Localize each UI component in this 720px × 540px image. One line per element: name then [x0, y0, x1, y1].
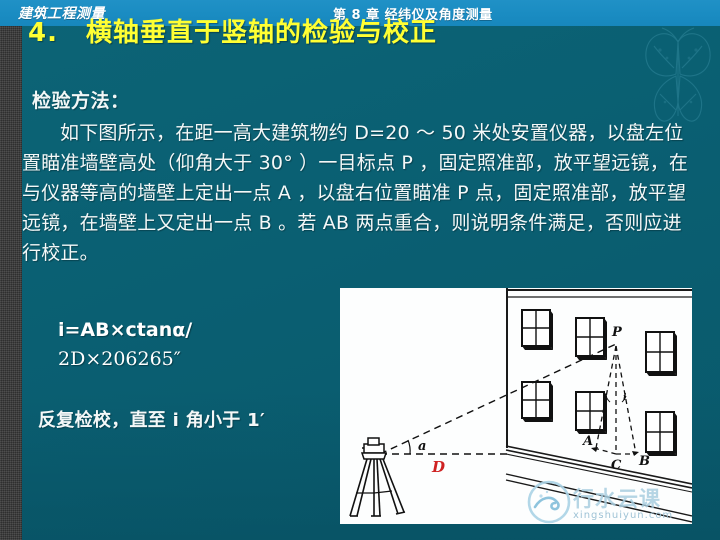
- procedure-note: 反复检校，直至 i 角小于 1′: [38, 408, 328, 434]
- figure-label-i-right: i: [623, 393, 627, 403]
- figure-label-i-left: i: [604, 393, 608, 403]
- figure-label-P: P: [611, 325, 623, 340]
- slide-canvas: 建筑工程测量 第 8 章 经纬仪及角度测量 4.横轴垂直于竖轴的检验与校正 检验…: [0, 0, 720, 540]
- figure-label-D: D: [432, 458, 445, 476]
- body-paragraph: 如下图所示，在距一高大建筑物约 D=20 ～ 50 米处安置仪器，以盘左位置瞄准…: [22, 118, 694, 268]
- figure-label-C: C: [611, 458, 622, 473]
- theodolite-diagram-svg: a P i i A C: [340, 288, 692, 524]
- left-texture-ribbon: [0, 25, 22, 540]
- formula-line-1: i=AB×ctanα/: [58, 316, 328, 345]
- theodolite-diagram-figure: a P i i A C: [340, 288, 692, 524]
- figure-label-A: A: [581, 434, 593, 449]
- page-title: 4.横轴垂直于竖轴的检验与校正: [28, 10, 688, 56]
- figure-label-B: B: [638, 454, 650, 469]
- formula-line-2: 2D×206265″: [58, 345, 328, 374]
- section-subheading: 检验方法：: [32, 86, 130, 113]
- figure-label-alpha: a: [418, 439, 426, 454]
- page-title-number: 4.: [28, 10, 86, 56]
- page-title-text: 横轴垂直于竖轴的检验与校正: [86, 18, 437, 48]
- formula-block: i=AB×ctanα/ 2D×206265″: [58, 316, 328, 374]
